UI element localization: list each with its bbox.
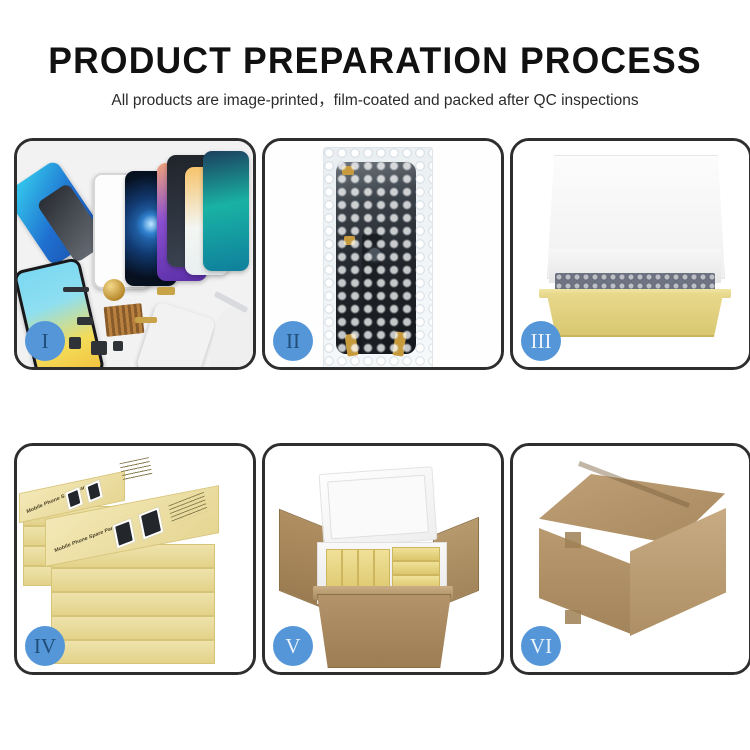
step-badge-3: III <box>521 321 561 361</box>
page-subtitle: All products are image-printed，film-coat… <box>0 93 750 109</box>
part-gold-connector <box>157 287 175 295</box>
step-numeral: V <box>285 636 300 657</box>
gold-component <box>103 279 125 301</box>
step-numeral: I <box>42 331 49 352</box>
carton-tape-tab-bottom <box>565 610 581 624</box>
step-numeral: VI <box>530 636 552 657</box>
box-window <box>138 506 165 541</box>
box-layer <box>51 640 215 664</box>
step-badge-4: IV <box>25 626 65 666</box>
carton-tape-tab-top <box>565 532 581 548</box>
box-spec-lines <box>168 492 207 525</box>
bubble-wrap-bag <box>323 147 433 367</box>
process-step-6: VI <box>510 443 750 675</box>
technician-hand <box>207 304 253 367</box>
bubble-texture <box>324 148 432 367</box>
box-layer <box>51 568 215 592</box>
process-step-2: II <box>262 138 504 370</box>
box-layer <box>51 616 215 640</box>
part-chip <box>69 337 81 349</box>
carton-body <box>317 594 451 668</box>
part-chip <box>77 317 93 325</box>
part-gold-connector <box>135 317 157 323</box>
process-step-3: III <box>510 138 750 370</box>
step-numeral: IV <box>34 636 56 657</box>
step-badge-6: VI <box>521 626 561 666</box>
part-chip <box>91 341 107 355</box>
box-spec-lines <box>119 457 152 481</box>
part-chip <box>63 287 89 292</box>
process-step-5: V <box>262 443 504 675</box>
part-chip <box>113 341 123 351</box>
process-step-1: I <box>14 138 256 370</box>
step-numeral: III <box>531 331 552 352</box>
yellow-box <box>392 561 440 575</box>
foam-lid-open <box>319 466 438 548</box>
yellow-box-tray <box>541 293 729 337</box>
page-header: PRODUCT PREPARATION PROCESS All products… <box>0 0 750 109</box>
box-layer <box>51 592 215 616</box>
step-numeral: II <box>286 331 300 352</box>
box-label-text: Mobile Phone Spare Parts <box>54 524 118 554</box>
process-panel-grid: I II <box>14 138 736 675</box>
carton-left-face <box>539 528 631 634</box>
yellow-box <box>392 547 440 561</box>
box-window <box>112 517 137 549</box>
step-badge-2: II <box>273 321 313 361</box>
page-title: PRODUCT PREPARATION PROCESS <box>15 42 735 79</box>
step-badge-5: V <box>273 626 313 666</box>
step-badge-1: I <box>25 321 65 361</box>
phone-teal-screen <box>203 151 249 271</box>
process-step-4: Mobile Phone Spare Parts Mobile Phone Sp… <box>14 443 256 675</box>
phone-rear-housing <box>136 301 217 367</box>
